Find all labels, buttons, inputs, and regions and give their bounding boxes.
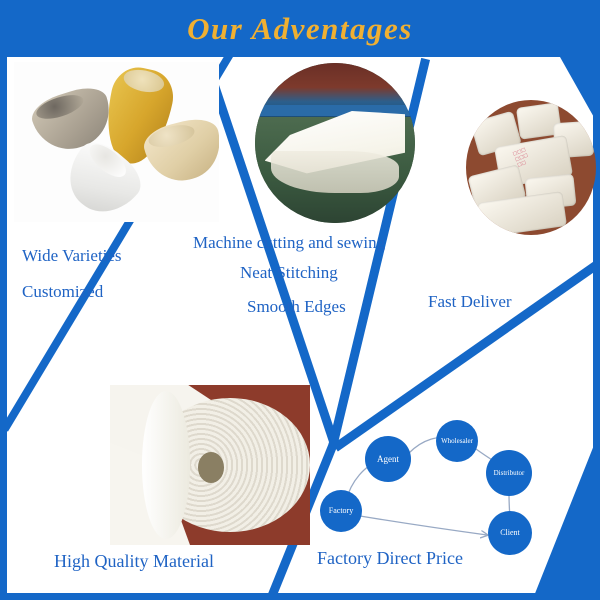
bag-opening (34, 90, 86, 123)
bag-opening (121, 66, 165, 95)
label-factory-direct-price: Factory Direct Price (317, 548, 463, 569)
page-title: Our Adventages (187, 11, 413, 47)
packed-goods-photo: ☐☐☐ ☐☐☐ ☐☐ (466, 100, 596, 235)
advantages-infographic: Our Adventages ☐☐☐ ☐☐☐ ☐☐ (0, 0, 600, 600)
flow-node-factory[interactable]: Factory (320, 490, 362, 532)
flow-node-client[interactable]: Client (488, 511, 532, 555)
label-machine-cutting: Machine cutting and sewing (193, 233, 385, 253)
header-banner: Our Adventages (0, 0, 600, 57)
flow-node-label: Client (500, 529, 520, 537)
fabric-roll-photo (110, 385, 310, 545)
frame-bottom-edge (0, 593, 600, 600)
frame-right-edge (593, 0, 600, 600)
machine-cutting-photo (255, 63, 415, 223)
flow-node-agent[interactable]: Agent (365, 436, 411, 482)
label-high-quality-material: High Quality Material (54, 551, 214, 572)
flow-node-wholesaler[interactable]: Wholesaler (436, 420, 478, 462)
fabric-roll-edge (142, 391, 190, 538)
flow-node-label: Wholesaler (441, 438, 473, 445)
frame-left-edge (0, 0, 7, 600)
distribution-flow-diagram: Factory Agent Wholesaler Distributor Cli… (305, 415, 545, 565)
label-neat-stitching: Neat Stitching (240, 263, 338, 283)
flow-node-distributor[interactable]: Distributor (486, 450, 532, 496)
label-customized: Customized (22, 282, 103, 302)
bottom-left-corner-wedge (7, 560, 44, 596)
fabric-roll-core (198, 452, 224, 482)
label-wide-varieties: Wide Varieties (22, 246, 122, 266)
flow-node-label: Distributor (494, 470, 525, 477)
label-fast-deliver: Fast Deliver (428, 292, 512, 312)
label-smooth-edges: Smooth Edges (247, 297, 346, 317)
flow-node-label: Factory (329, 507, 353, 515)
filter-bags-photo (14, 62, 219, 222)
flow-node-label: Agent (377, 455, 399, 464)
